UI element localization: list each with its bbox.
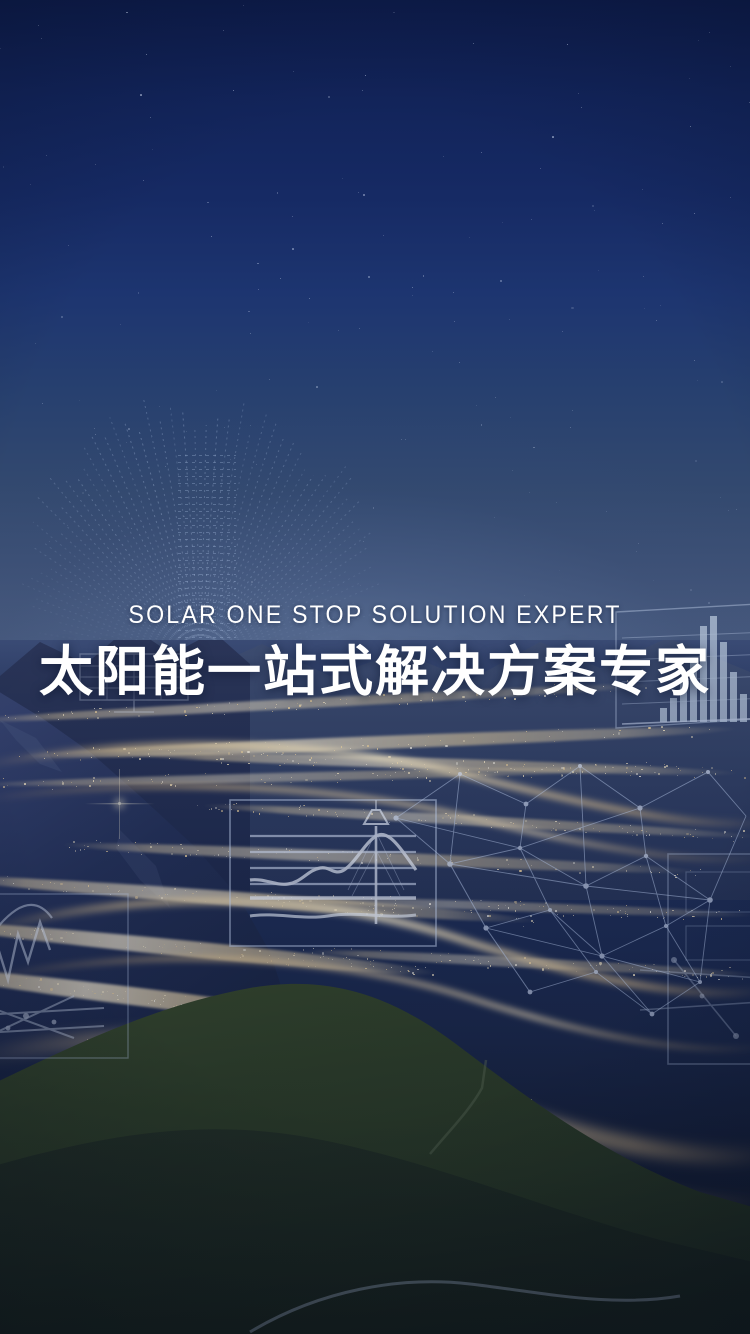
star bbox=[694, 213, 695, 214]
star bbox=[432, 351, 433, 352]
city-light bbox=[75, 850, 77, 852]
city-light bbox=[109, 711, 110, 712]
city-light bbox=[231, 809, 233, 811]
city-light bbox=[684, 970, 686, 972]
city-light bbox=[290, 782, 292, 784]
city-light bbox=[507, 776, 509, 778]
city-light bbox=[3, 786, 5, 788]
city-light bbox=[233, 804, 235, 806]
city-light bbox=[418, 819, 420, 821]
star bbox=[643, 276, 644, 277]
star bbox=[251, 581, 253, 583]
city-light bbox=[128, 852, 130, 854]
city-light bbox=[91, 757, 92, 758]
city-light bbox=[328, 853, 329, 854]
star bbox=[95, 434, 96, 435]
city-light bbox=[607, 909, 608, 910]
city-light bbox=[659, 872, 660, 873]
city-light bbox=[194, 1003, 195, 1004]
light-flare bbox=[530, 1132, 533, 1135]
star bbox=[500, 280, 502, 282]
city-light bbox=[488, 961, 489, 962]
city-light bbox=[244, 857, 245, 858]
city-light bbox=[69, 847, 70, 848]
city-light bbox=[243, 756, 245, 758]
star bbox=[269, 379, 270, 380]
city-light bbox=[366, 913, 368, 915]
city-light bbox=[473, 814, 475, 816]
city-light bbox=[4, 931, 5, 932]
star bbox=[423, 275, 425, 277]
city-light bbox=[293, 1020, 295, 1022]
city-light bbox=[675, 877, 677, 879]
city-light bbox=[99, 749, 100, 750]
city-light bbox=[718, 979, 720, 981]
city-light bbox=[306, 1023, 308, 1025]
city-light bbox=[101, 994, 102, 995]
city-light bbox=[170, 784, 172, 786]
city-light bbox=[213, 1005, 214, 1006]
star bbox=[509, 319, 510, 320]
star bbox=[360, 585, 361, 586]
city-light bbox=[646, 835, 647, 836]
star bbox=[736, 509, 737, 510]
city-light bbox=[364, 812, 365, 813]
city-light bbox=[450, 855, 451, 856]
city-light bbox=[416, 915, 418, 917]
city-light-band bbox=[200, 800, 750, 841]
city-light bbox=[390, 896, 391, 897]
star bbox=[689, 78, 690, 79]
city-light bbox=[243, 949, 245, 951]
hero-text-block: SOLAR ONE STOP SOLUTION EXPERT 太阳能一站式解决方… bbox=[0, 600, 750, 702]
star bbox=[412, 287, 413, 288]
city-light bbox=[282, 752, 284, 754]
star bbox=[405, 439, 406, 440]
city-light bbox=[632, 835, 633, 836]
star bbox=[291, 592, 292, 593]
city-light bbox=[429, 780, 431, 782]
star bbox=[30, 184, 31, 185]
star bbox=[126, 442, 127, 443]
star bbox=[233, 90, 234, 91]
city-light bbox=[89, 785, 91, 787]
city-light bbox=[367, 745, 369, 747]
city-light bbox=[229, 742, 230, 743]
star bbox=[694, 360, 695, 361]
city-light bbox=[530, 915, 532, 917]
star bbox=[454, 321, 455, 322]
star bbox=[368, 276, 370, 278]
city-light bbox=[379, 916, 380, 917]
star bbox=[61, 316, 63, 318]
city-light bbox=[452, 862, 453, 863]
city-light bbox=[224, 714, 225, 715]
city-light bbox=[94, 708, 95, 709]
star bbox=[721, 381, 723, 383]
star bbox=[638, 543, 639, 544]
city-light bbox=[711, 767, 713, 769]
city-light bbox=[318, 709, 319, 710]
city-light bbox=[605, 773, 606, 774]
city-light bbox=[692, 974, 694, 976]
city-light bbox=[180, 1006, 181, 1007]
city-light bbox=[218, 751, 219, 752]
city-light bbox=[561, 767, 563, 769]
star bbox=[35, 343, 36, 344]
city-light bbox=[185, 855, 187, 857]
city-light bbox=[562, 731, 563, 732]
city-light bbox=[555, 910, 557, 912]
star bbox=[126, 12, 128, 14]
city-light bbox=[230, 857, 231, 858]
star bbox=[570, 427, 571, 428]
city-light bbox=[161, 953, 162, 954]
city-light bbox=[479, 768, 480, 769]
city-light bbox=[261, 754, 262, 755]
city-light bbox=[196, 891, 197, 892]
star bbox=[297, 555, 298, 556]
city-light bbox=[398, 744, 399, 745]
city-light bbox=[174, 750, 175, 751]
city-light bbox=[313, 814, 315, 816]
city-light bbox=[712, 838, 714, 840]
city-light bbox=[413, 974, 415, 976]
city-light bbox=[388, 756, 390, 758]
city-light bbox=[391, 967, 392, 968]
city-light bbox=[724, 833, 725, 834]
hero-title: 太阳能一站式解决方案专家 bbox=[0, 642, 750, 702]
city-light bbox=[284, 852, 285, 853]
star bbox=[690, 589, 692, 591]
city-light bbox=[303, 805, 304, 806]
city-light bbox=[80, 759, 82, 761]
city-light bbox=[646, 762, 647, 763]
city-light bbox=[28, 888, 30, 890]
star bbox=[358, 192, 359, 193]
city-light bbox=[636, 834, 638, 836]
star bbox=[128, 428, 130, 430]
star bbox=[459, 362, 460, 363]
city-light bbox=[218, 809, 220, 811]
star bbox=[152, 149, 153, 150]
city-light bbox=[141, 854, 142, 855]
star bbox=[308, 322, 309, 323]
city-light bbox=[278, 958, 279, 959]
city-light bbox=[494, 772, 496, 774]
star bbox=[216, 390, 217, 391]
city-light bbox=[683, 919, 684, 920]
city-light bbox=[221, 810, 223, 812]
city-light bbox=[305, 779, 307, 781]
city-light bbox=[485, 775, 487, 777]
city-light bbox=[651, 872, 652, 873]
city-light bbox=[132, 757, 133, 758]
city-light bbox=[92, 890, 94, 892]
city-light bbox=[248, 763, 250, 765]
city-light bbox=[508, 907, 510, 909]
city-light bbox=[151, 1000, 153, 1002]
city-light bbox=[648, 727, 650, 729]
city-light bbox=[315, 966, 316, 967]
city-light bbox=[96, 840, 97, 841]
city-light bbox=[392, 780, 393, 781]
city-light bbox=[630, 825, 631, 826]
city-light bbox=[372, 773, 374, 775]
star bbox=[207, 202, 209, 204]
star bbox=[695, 460, 697, 462]
star bbox=[662, 223, 663, 224]
city-light bbox=[88, 989, 89, 990]
city-light bbox=[691, 736, 693, 738]
star bbox=[359, 328, 360, 329]
city-light bbox=[599, 962, 601, 964]
city-light bbox=[278, 1020, 280, 1022]
star bbox=[224, 427, 225, 428]
city-light bbox=[123, 998, 124, 999]
city-light bbox=[173, 1006, 175, 1008]
star bbox=[95, 164, 96, 165]
city-light bbox=[700, 869, 701, 870]
star bbox=[720, 497, 721, 498]
city-light bbox=[58, 719, 60, 721]
city-light bbox=[288, 816, 289, 817]
star bbox=[140, 94, 142, 96]
city-light bbox=[361, 862, 363, 864]
city-light bbox=[706, 976, 708, 978]
city-light bbox=[739, 910, 740, 911]
city-light bbox=[227, 764, 229, 766]
city-light bbox=[334, 909, 336, 911]
star bbox=[131, 528, 132, 529]
city-light bbox=[80, 849, 82, 851]
city-light bbox=[516, 918, 517, 919]
city-light bbox=[360, 903, 361, 904]
star bbox=[186, 431, 187, 432]
city-light bbox=[258, 854, 259, 855]
city-light bbox=[440, 955, 441, 956]
star bbox=[494, 517, 495, 518]
city-light bbox=[112, 993, 114, 995]
city-light bbox=[635, 766, 636, 767]
city-light bbox=[3, 880, 4, 881]
star bbox=[697, 380, 698, 381]
city-light bbox=[573, 915, 574, 916]
city-light bbox=[367, 958, 369, 960]
city-light bbox=[520, 901, 521, 902]
city-light bbox=[324, 1025, 325, 1026]
star bbox=[94, 428, 95, 429]
city-light bbox=[410, 747, 412, 749]
city-light bbox=[650, 871, 651, 872]
city-light bbox=[579, 872, 581, 874]
night-cityscape bbox=[0, 640, 750, 1334]
city-light bbox=[241, 751, 243, 753]
city-light bbox=[162, 947, 163, 948]
city-light bbox=[677, 775, 678, 776]
city-light bbox=[436, 962, 437, 963]
city-light bbox=[163, 998, 164, 999]
city-light bbox=[196, 854, 197, 855]
city-light bbox=[626, 763, 628, 765]
star bbox=[0, 48, 1, 49]
city-light bbox=[3, 985, 4, 986]
city-light bbox=[299, 809, 300, 810]
city-light bbox=[557, 914, 558, 915]
city-light bbox=[303, 1022, 304, 1023]
city-light bbox=[44, 758, 45, 759]
city-light bbox=[627, 916, 628, 917]
city-light bbox=[50, 938, 52, 940]
city-light bbox=[196, 707, 198, 709]
city-light bbox=[306, 815, 308, 817]
city-light bbox=[553, 765, 554, 766]
city-light bbox=[441, 961, 442, 962]
star bbox=[257, 263, 259, 265]
city-light bbox=[639, 776, 641, 778]
star bbox=[531, 219, 532, 220]
star bbox=[138, 292, 140, 294]
star bbox=[476, 405, 477, 406]
city-light bbox=[731, 836, 732, 837]
city-light bbox=[523, 775, 525, 777]
city-light bbox=[618, 963, 619, 964]
city-light bbox=[545, 902, 547, 904]
city-light bbox=[222, 758, 224, 760]
city-light bbox=[478, 771, 480, 773]
city-light bbox=[271, 960, 273, 962]
star bbox=[401, 439, 402, 440]
city-light bbox=[442, 817, 444, 819]
city-light bbox=[279, 765, 281, 767]
star bbox=[412, 295, 413, 296]
city-light bbox=[672, 835, 673, 836]
city-light bbox=[408, 772, 410, 774]
star-field bbox=[0, 0, 750, 640]
city-light bbox=[377, 748, 379, 750]
city-light bbox=[317, 899, 318, 900]
city-light bbox=[346, 902, 347, 903]
city-light bbox=[554, 741, 555, 742]
city-light bbox=[506, 859, 508, 861]
star bbox=[150, 117, 151, 118]
city-light bbox=[197, 805, 198, 806]
city-light bbox=[455, 823, 457, 825]
city-light bbox=[539, 906, 540, 907]
city-light-band bbox=[0, 915, 440, 982]
star bbox=[642, 189, 643, 190]
star bbox=[709, 32, 710, 33]
star bbox=[567, 44, 568, 45]
city-light bbox=[555, 821, 557, 823]
city-light bbox=[394, 908, 395, 909]
star bbox=[572, 410, 573, 411]
star bbox=[146, 54, 147, 55]
star bbox=[473, 43, 474, 44]
city-light bbox=[106, 851, 108, 853]
city-light bbox=[695, 875, 696, 876]
city-light bbox=[267, 895, 269, 897]
city-light bbox=[619, 826, 620, 827]
city-light bbox=[161, 897, 163, 899]
city-light bbox=[309, 860, 310, 861]
city-light bbox=[636, 773, 638, 775]
hero-subtitle: SOLAR ONE STOP SOLUTION EXPERT bbox=[26, 600, 724, 630]
star bbox=[261, 587, 262, 588]
star bbox=[365, 75, 366, 76]
city-light bbox=[336, 814, 337, 815]
city-light bbox=[229, 702, 231, 704]
city-light bbox=[663, 918, 664, 919]
star bbox=[338, 330, 339, 331]
star bbox=[559, 570, 560, 571]
city-light bbox=[268, 1014, 270, 1016]
city-light bbox=[633, 831, 634, 832]
city-light bbox=[407, 703, 409, 705]
city-light bbox=[742, 978, 744, 980]
city-light bbox=[313, 948, 314, 949]
city-light bbox=[278, 897, 280, 899]
city-light bbox=[571, 909, 572, 910]
city-light bbox=[150, 846, 152, 848]
city-light bbox=[542, 968, 544, 970]
city-light bbox=[97, 717, 99, 719]
star bbox=[552, 136, 554, 138]
city-light bbox=[361, 911, 362, 912]
city-light bbox=[296, 709, 297, 710]
star bbox=[393, 12, 395, 14]
city-light bbox=[261, 779, 262, 780]
city-light bbox=[24, 783, 26, 785]
star bbox=[309, 298, 310, 299]
city-light bbox=[412, 972, 414, 974]
star bbox=[211, 236, 212, 237]
city-light bbox=[72, 933, 74, 935]
city-light bbox=[610, 915, 611, 916]
city-light bbox=[567, 905, 568, 906]
city-light bbox=[236, 803, 237, 804]
star bbox=[383, 235, 384, 236]
city-light bbox=[389, 822, 390, 823]
city-light bbox=[724, 831, 726, 833]
city-light bbox=[524, 764, 525, 765]
star bbox=[524, 595, 525, 596]
city-light bbox=[449, 960, 451, 962]
city-light bbox=[328, 958, 329, 959]
city-light bbox=[715, 773, 717, 775]
star bbox=[68, 245, 69, 246]
city-light bbox=[175, 944, 176, 945]
city-light bbox=[697, 977, 698, 978]
city-light bbox=[337, 1026, 338, 1027]
star bbox=[67, 525, 68, 526]
city-light bbox=[661, 726, 663, 728]
star bbox=[606, 511, 607, 512]
city-light bbox=[259, 950, 261, 952]
city-light bbox=[425, 967, 426, 968]
city-light bbox=[168, 750, 169, 751]
star bbox=[256, 464, 257, 465]
city-light bbox=[510, 768, 512, 770]
city-light bbox=[474, 960, 475, 961]
city-light bbox=[700, 975, 701, 976]
city-light bbox=[312, 960, 313, 961]
star bbox=[730, 197, 731, 198]
city-light bbox=[658, 773, 660, 775]
star bbox=[143, 180, 144, 181]
city-light bbox=[417, 857, 419, 859]
city-light bbox=[559, 823, 560, 824]
